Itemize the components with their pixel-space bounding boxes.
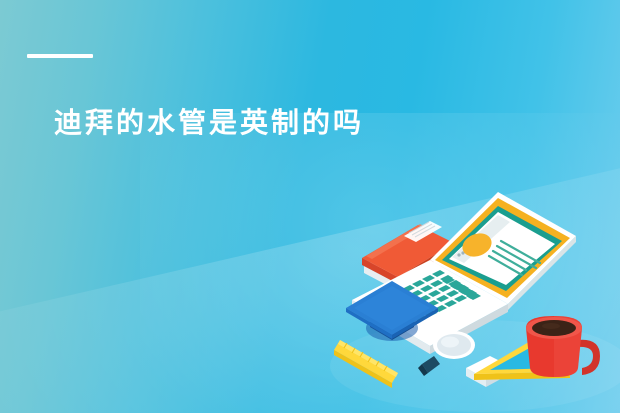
page-title: 迪拜的水管是英制的吗 — [54, 106, 364, 140]
hero-illustration — [330, 188, 620, 413]
title-divider-rule — [27, 54, 93, 58]
coffee-mug-icon — [526, 316, 600, 377]
banner-root: 迪拜的水管是英制的吗 — [0, 0, 620, 413]
